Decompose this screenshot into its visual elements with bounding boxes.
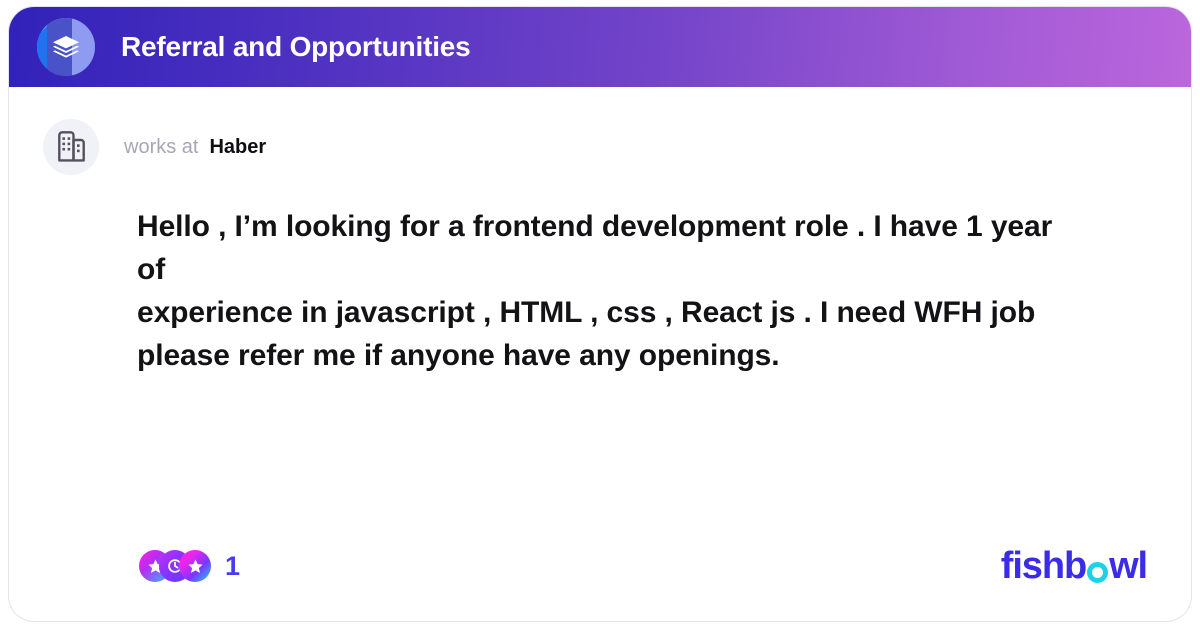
star-glyph-icon: [187, 558, 204, 575]
post-text-line: experience in javascript , HTML , css , …: [137, 291, 1147, 334]
wordmark-part-1: fishb: [1001, 547, 1086, 585]
reaction-count: 1: [225, 551, 240, 582]
post-body: works at Haber Hello , I’m looking for a…: [9, 87, 1191, 621]
wordmark-part-2: wl: [1109, 547, 1147, 585]
avatar: [43, 119, 99, 175]
card-footer: 1 fishb wl: [9, 541, 1191, 591]
wordmark-o-ring-icon: [1087, 562, 1108, 583]
page-title: Referral and Opportunities: [121, 31, 471, 63]
post-card: Referral and Opportunities: [8, 6, 1192, 622]
post-text: Hello , I’m looking for a frontend devel…: [137, 205, 1147, 377]
layers-stack-icon: [51, 34, 81, 60]
card-header: Referral and Opportunities: [9, 7, 1191, 87]
fishbowl-wordmark: fishb wl: [1001, 547, 1147, 585]
post-text-line: of: [137, 248, 1147, 291]
post-text-line: please refer me if anyone have any openi…: [137, 334, 1147, 377]
office-building-icon: [56, 131, 86, 163]
author-row: works at Haber: [9, 87, 1191, 175]
reactions-group[interactable]: 1: [139, 550, 240, 582]
works-at-label: works at: [124, 136, 198, 159]
post-text-line: Hello , I’m looking for a frontend devel…: [137, 205, 1147, 248]
star-reaction-icon[interactable]: [179, 550, 211, 582]
author-meta: works at Haber: [124, 136, 266, 159]
fishbowl-bowl-logo-icon: [37, 18, 95, 76]
reaction-stack[interactable]: [139, 550, 211, 582]
company-name[interactable]: Haber: [209, 136, 266, 159]
